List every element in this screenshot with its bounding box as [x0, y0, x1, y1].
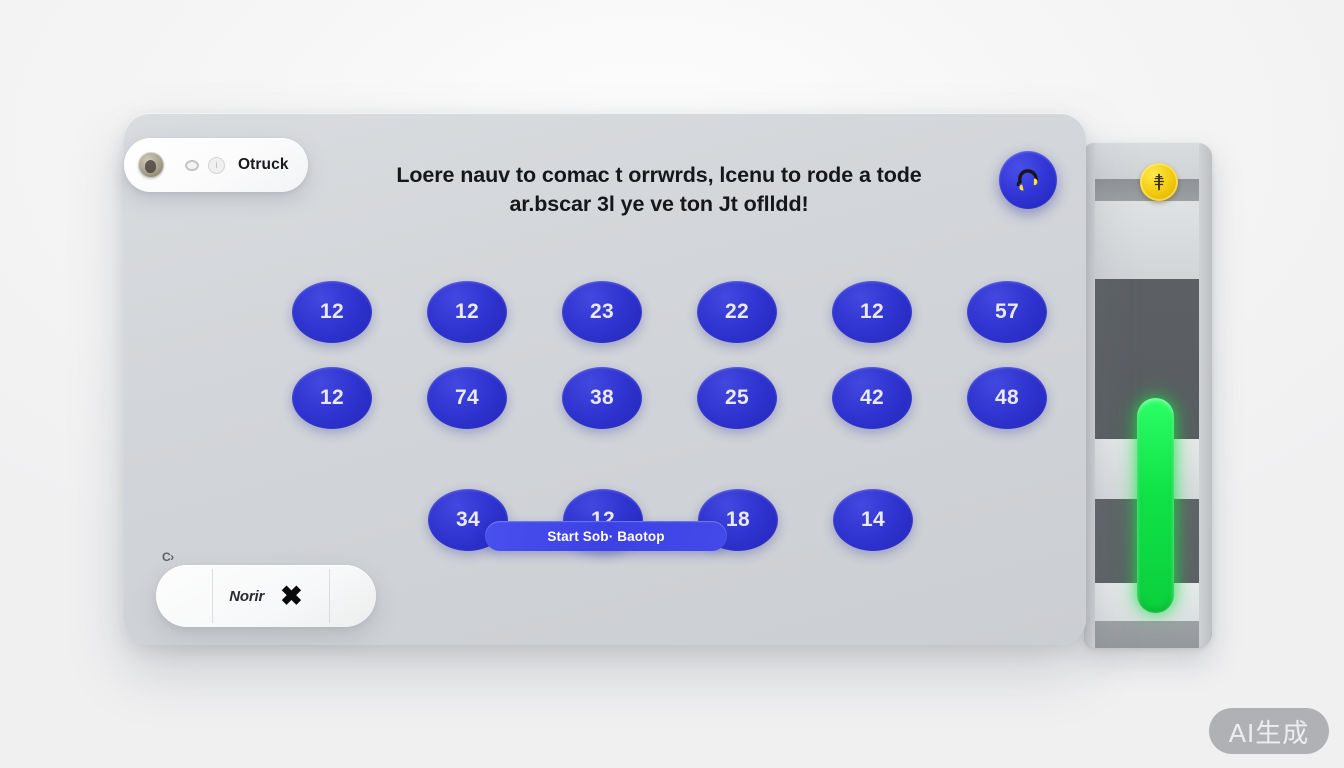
ai-generated-watermark: AI生成 — [1209, 708, 1329, 754]
main-card: i Otruck Loere nauv to comac t orrwrds, … — [124, 113, 1086, 645]
panel-band-bottom — [1084, 621, 1212, 648]
number-bubble[interactable]: 14 — [833, 489, 913, 551]
number-bubble[interactable]: 57 — [967, 281, 1047, 343]
app-stage: i Otruck Loere nauv to comac t orrwrds, … — [0, 0, 1344, 768]
headset-icon-button[interactable] — [999, 151, 1057, 209]
info-circle-icon: i — [208, 157, 225, 174]
panel-rail-right — [1199, 143, 1212, 648]
number-bubble[interactable]: 12 — [292, 281, 372, 343]
headset-icon — [1013, 165, 1043, 195]
number-bubble[interactable]: 42 — [832, 367, 912, 429]
number-bubble[interactable]: 74 — [427, 367, 507, 429]
number-bubble[interactable]: 48 — [967, 367, 1047, 429]
bottom-pill[interactable]: Norir ✖ — [156, 565, 376, 627]
number-bubble[interactable]: 38 — [562, 367, 642, 429]
start-backup-button[interactable]: Start Sob· Baotop — [485, 521, 727, 551]
number-bubble[interactable]: 23 — [562, 281, 642, 343]
panel-band-pale-1 — [1084, 201, 1212, 279]
number-bubble[interactable]: 22 — [697, 281, 777, 343]
oval-dot-icon — [185, 160, 199, 171]
number-bubble[interactable]: 25 — [697, 367, 777, 429]
side-panel — [1084, 143, 1212, 648]
vertical-green-progress-bar[interactable] — [1137, 398, 1174, 613]
user-chip[interactable]: i Otruck — [124, 138, 308, 192]
close-x-icon[interactable]: ✖ — [280, 583, 303, 610]
gold-coin-icon — [1140, 163, 1178, 201]
number-bubble[interactable]: 12 — [292, 367, 372, 429]
user-chip-label: Otruck — [238, 156, 289, 174]
page-title: Loere nauv to comac t orrwrds, lcenu to … — [379, 161, 939, 219]
number-bubble[interactable]: 12 — [832, 281, 912, 343]
number-bubble[interactable]: 12 — [427, 281, 507, 343]
bubble-row: 12 12 23 22 12 57 — [292, 281, 1052, 343]
bubble-row: 12 74 38 25 42 48 — [292, 367, 1052, 429]
user-avatar-icon — [138, 152, 164, 178]
corner-arrow-icon: C› — [162, 550, 174, 564]
bottom-pill-label: Norir — [229, 588, 264, 605]
